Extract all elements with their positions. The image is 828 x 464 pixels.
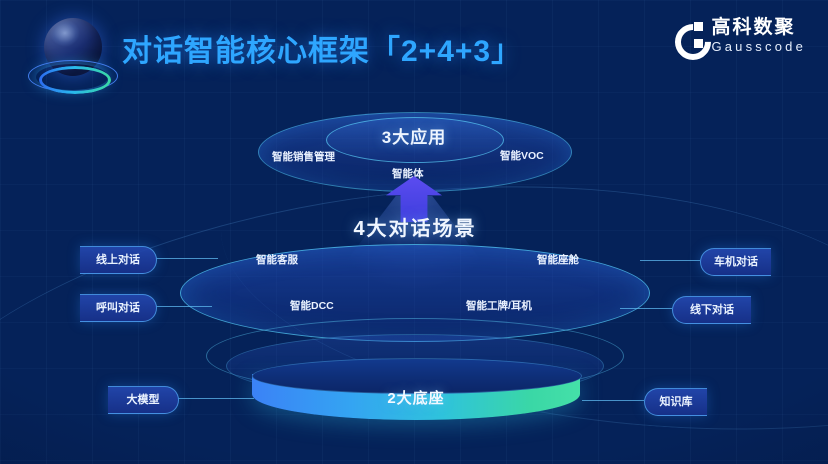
applications-title: 3大应用	[366, 123, 462, 148]
connector-llm	[178, 398, 254, 399]
application-label-voc: 智能VOC	[500, 148, 544, 163]
connector-offline	[620, 308, 672, 309]
application-label-agent: 智能体	[392, 166, 424, 181]
application-label-sales: 智能销售管理	[272, 149, 335, 164]
tag-large-model[interactable]: 大模型	[108, 386, 179, 414]
connector-kb	[582, 400, 644, 401]
foundation-title: 2大底座	[350, 387, 482, 408]
brand-name-cn: 高科数聚	[711, 18, 806, 37]
scenario-label-dcc: 智能DCC	[290, 298, 334, 313]
brand-name-en: Gausscode	[711, 40, 806, 53]
connector-call	[156, 306, 212, 307]
tag-knowledge-base[interactable]: 知识库	[644, 388, 707, 416]
scenario-label-badge-headset: 智能工牌/耳机	[466, 298, 532, 313]
gradient-ring-icon	[39, 66, 111, 94]
tag-online-dialogue[interactable]: 线上对话	[80, 246, 157, 274]
tag-call-dialogue[interactable]: 呼叫对话	[80, 294, 157, 322]
gausscode-mark-icon	[675, 22, 703, 50]
scenario-label-customer-service: 智能客服	[256, 252, 298, 267]
scenario-label-smart-cabin: 智能座舱	[537, 252, 579, 267]
connector-online	[156, 258, 218, 259]
sphere-on-rings-icon	[22, 14, 118, 102]
brand-logo: 高科数聚 Gausscode	[675, 18, 806, 53]
slide-canvas: 对话智能核心框架「2+4+3」 高科数聚 Gausscode 3大应用 智能销售…	[0, 0, 828, 464]
page-title: 对话智能核心框架「2+4+3」	[122, 26, 522, 70]
connector-vehicle	[640, 260, 700, 261]
tag-vehicle-dialogue[interactable]: 车机对话	[700, 248, 771, 276]
tag-offline-dialogue[interactable]: 线下对话	[672, 296, 751, 324]
scenarios-title: 4大对话场景	[330, 212, 500, 241]
